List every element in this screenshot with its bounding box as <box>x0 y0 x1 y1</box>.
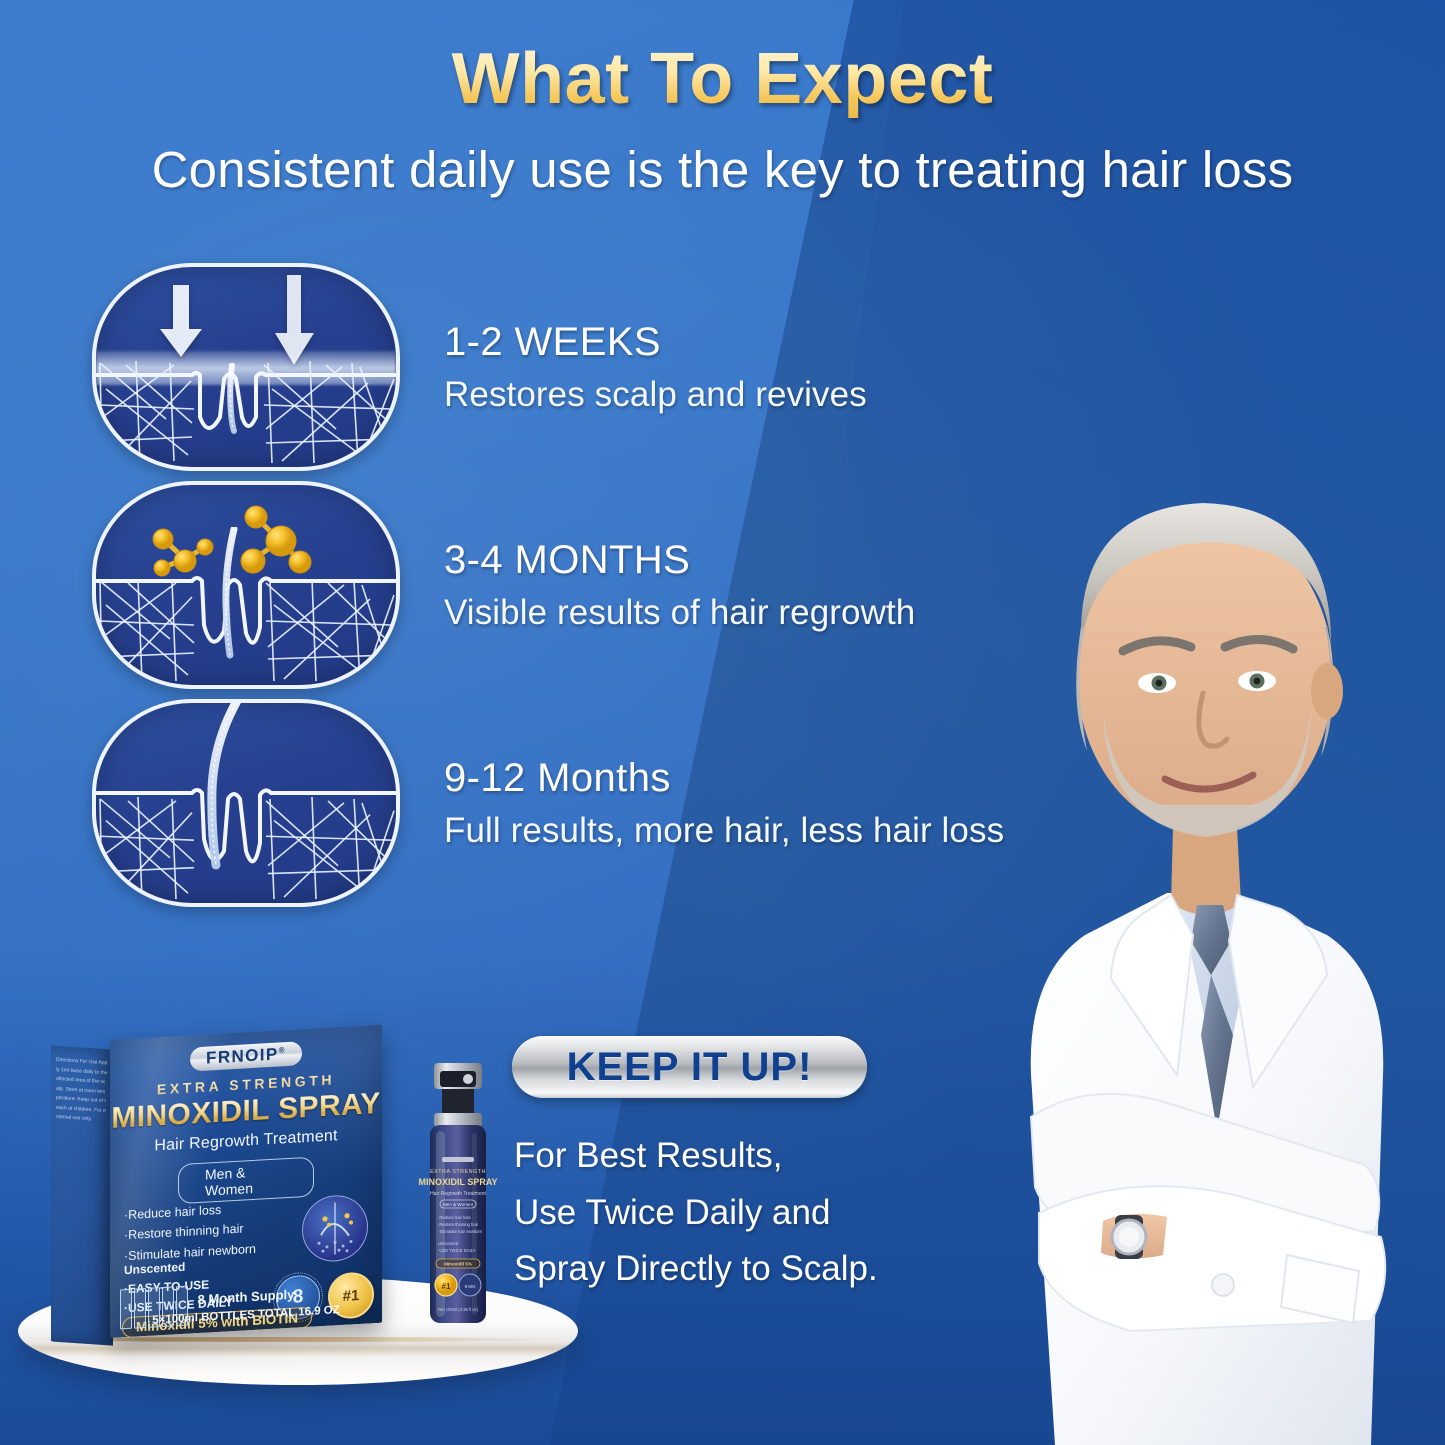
absorption-arrow-right-icon <box>274 275 316 367</box>
svg-text:·Reduce hair loss: ·Reduce hair loss <box>438 1215 471 1220</box>
full-hair-growth-icon <box>92 699 400 907</box>
timeline-copy: 9-12 Months Full results, more hair, les… <box>444 756 1004 851</box>
timeline-description: Full results, more hair, less hair loss <box>444 811 1004 851</box>
brand-trademark: ® <box>279 1045 286 1054</box>
svg-text:Net 100ml (3.38 fl oz): Net 100ml (3.38 fl oz) <box>438 1307 479 1312</box>
absorption-arrow-left-icon <box>158 285 204 359</box>
timeline-copy: 3-4 MONTHS Visible results of hair regro… <box>444 538 915 633</box>
full-hair-strand-icon <box>194 699 254 877</box>
weak-follicle-icon <box>220 363 246 435</box>
timeline-heading: 3-4 MONTHS <box>444 538 915 583</box>
svg-text:·Restore thinning hair: ·Restore thinning hair <box>438 1222 479 1227</box>
product-benefits-list: ·Reduce hair loss ·Restore thinning hair… <box>124 1198 256 1266</box>
cta-line: Use Twice Daily and <box>514 1185 994 1242</box>
svg-text:Hair Regrowth Treatment: Hair Regrowth Treatment <box>430 1191 486 1197</box>
dermis-mesh <box>96 359 396 467</box>
brand-name: FRNOIP <box>206 1045 279 1068</box>
spray-bottle-illustration: EXTRA STRENGTH MINOXIDIL SPRAY Hair Regr… <box>412 1061 504 1333</box>
svg-text:EXTRA STRENGTH: EXTRA STRENGTH <box>430 1169 486 1175</box>
timeline-description: Restores scalp and revives <box>444 375 867 415</box>
product-bottle: EXTRA STRENGTH MINOXIDIL SPRAY Hair Regr… <box>412 1061 504 1333</box>
svg-text:·Stimulate hair newborn: ·Stimulate hair newborn <box>438 1229 483 1234</box>
scalp-absorption-icon <box>92 263 400 471</box>
product-box: Directions For Use Apply 1ml twice daily… <box>52 1025 382 1348</box>
doctor-illustration <box>935 375 1445 1445</box>
svg-text:8 MO: 8 MO <box>465 1284 476 1289</box>
svg-text:Unscented: Unscented <box>438 1241 459 1246</box>
svg-text:#1: #1 <box>442 1282 451 1291</box>
timeline-heading: 9-12 Months <box>444 756 1004 801</box>
cta-line: Spray Directly to Scalp. <box>514 1241 994 1298</box>
page-subtitle: Consistent daily use is the key to treat… <box>0 140 1445 199</box>
marketing-infographic: What To Expect Consistent daily use is t… <box>0 0 1445 1445</box>
keep-it-up-label: KEEP IT UP! <box>567 1045 813 1090</box>
timeline-copy: 1-2 WEEKS Restores scalp and revives <box>444 320 867 415</box>
molecule-cluster-large-icon <box>236 503 316 584</box>
molecule-nutrient-icon <box>92 481 400 689</box>
product-box-side-panel: Directions For Use Apply 1ml twice daily… <box>51 1045 113 1345</box>
timeline-heading: 1-2 WEEKS <box>444 320 867 365</box>
brand-logo: FRNOIP® <box>190 1041 302 1071</box>
product-audience-badge: Men & Women <box>178 1157 314 1205</box>
product-box-front: FRNOIP® EXTRA STRENGTH MINOXIDIL SPRAY H… <box>110 1025 382 1338</box>
page-title: What To Expect <box>0 38 1445 120</box>
doctor-photo <box>935 375 1445 1445</box>
svg-text:MINOXIDIL SPRAY: MINOXIDIL SPRAY <box>418 1177 497 1187</box>
svg-text:Minoxidil 5%: Minoxidil 5% <box>444 1262 472 1267</box>
molecule-cluster-small-icon <box>148 525 214 586</box>
cta-line: For Best Results, <box>514 1128 994 1185</box>
cta-instructions: For Best Results, Use Twice Daily and Sp… <box>514 1128 994 1298</box>
keep-it-up-badge: KEEP IT UP! <box>512 1036 867 1098</box>
box-side-text: Directions For Use Apply 1ml twice daily… <box>51 1045 113 1345</box>
svg-text:·USE TWICE DAILY: ·USE TWICE DAILY <box>438 1248 476 1253</box>
follicle-graphic-icon <box>302 1194 368 1264</box>
timeline-description: Visible results of hair regrowth <box>444 593 915 633</box>
svg-text:Men & Women: Men & Women <box>443 1202 474 1207</box>
